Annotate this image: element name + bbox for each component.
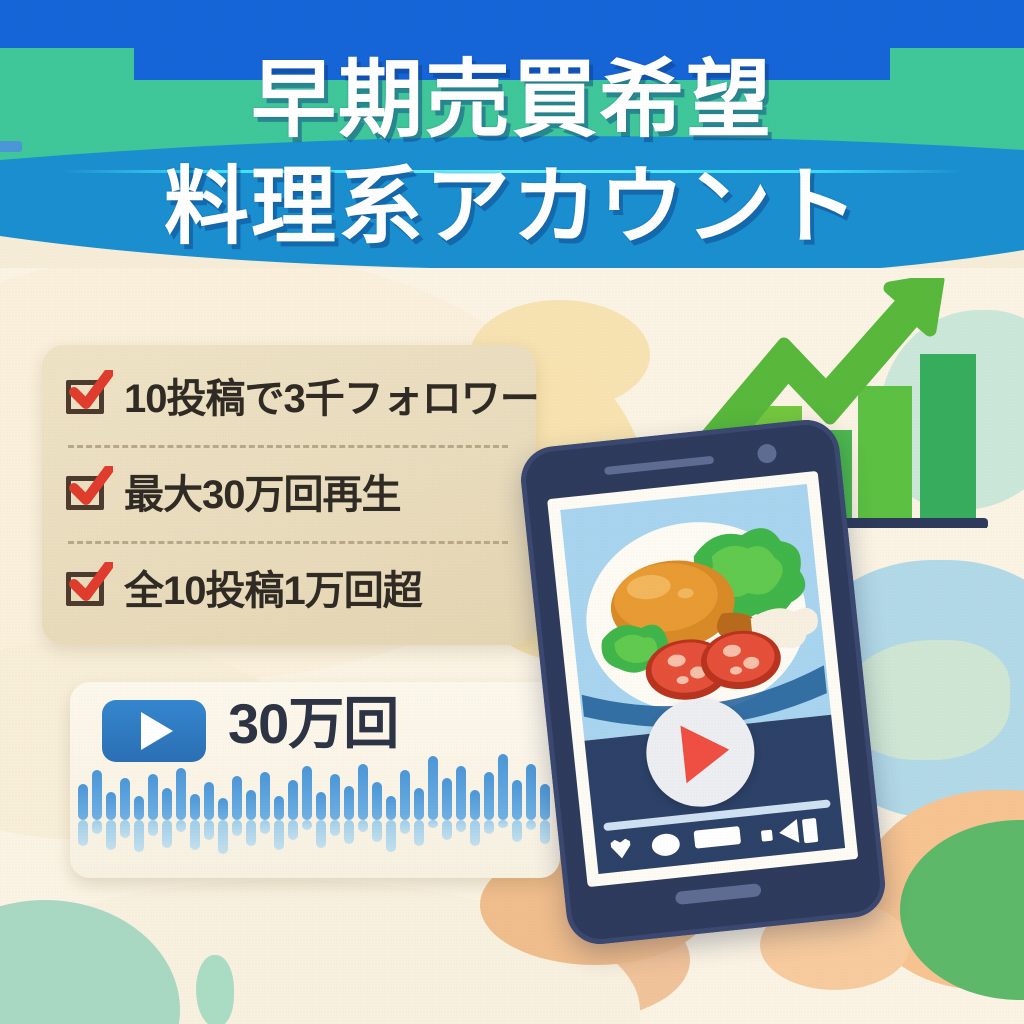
view-count-label: 30万回: [228, 696, 398, 752]
circle-icon[interactable]: [651, 832, 681, 857]
checklist-item: 10投稿で3千フォロワー: [66, 367, 539, 431]
video-player-bar: [584, 715, 845, 874]
views-card: 30万回: [70, 682, 560, 878]
chart-bar-4: [858, 386, 912, 518]
poster-canvas: 早期売買希望 料理系アカウント 10投稿で3千フォロワー: [0, 0, 1024, 1024]
bar-icon[interactable]: [802, 818, 818, 843]
heart-icon[interactable]: [609, 837, 633, 859]
header-banner: 早期売買希望 料理系アカウント: [0, 0, 1024, 268]
blob-mint-chip: [196, 955, 234, 1024]
chart-bar-5: [920, 354, 976, 518]
checklist-item-label: 10投稿で3千フォロワー: [124, 379, 539, 419]
checkbox-checked-icon: [66, 476, 110, 514]
checklist-item-label: 全10投稿1万回超: [124, 571, 422, 611]
phone-screen: [547, 471, 858, 887]
checklist-item: 全10投稿1万回超: [66, 559, 422, 623]
header-title-group: 早期売買希望 料理系アカウント: [0, 0, 1024, 268]
smartphone-icon: [518, 417, 889, 948]
page-title-line-1: 早期売買希望: [251, 58, 773, 143]
checklist-divider-1: [68, 445, 508, 448]
checklist-item: 最大30万回再生: [66, 463, 401, 527]
checklist-divider-2: [68, 541, 508, 544]
checklist-item-label: 最大30万回再生: [124, 475, 401, 515]
checkbox-checked-icon: [66, 380, 110, 418]
checklist-card: 10投稿で3千フォロワー 最大30万回再生 全10投稿1万回超: [42, 345, 536, 645]
checkbox-checked-icon: [66, 572, 110, 610]
dot-icon[interactable]: [761, 830, 773, 842]
page-title-line-2: 料理系アカウント: [164, 165, 860, 250]
waveform-tail-line: [0, 141, 22, 152]
audio-waveform-icon: [70, 752, 560, 878]
triangle-icon[interactable]: [778, 819, 799, 845]
rectangle-icon[interactable]: [694, 826, 742, 849]
